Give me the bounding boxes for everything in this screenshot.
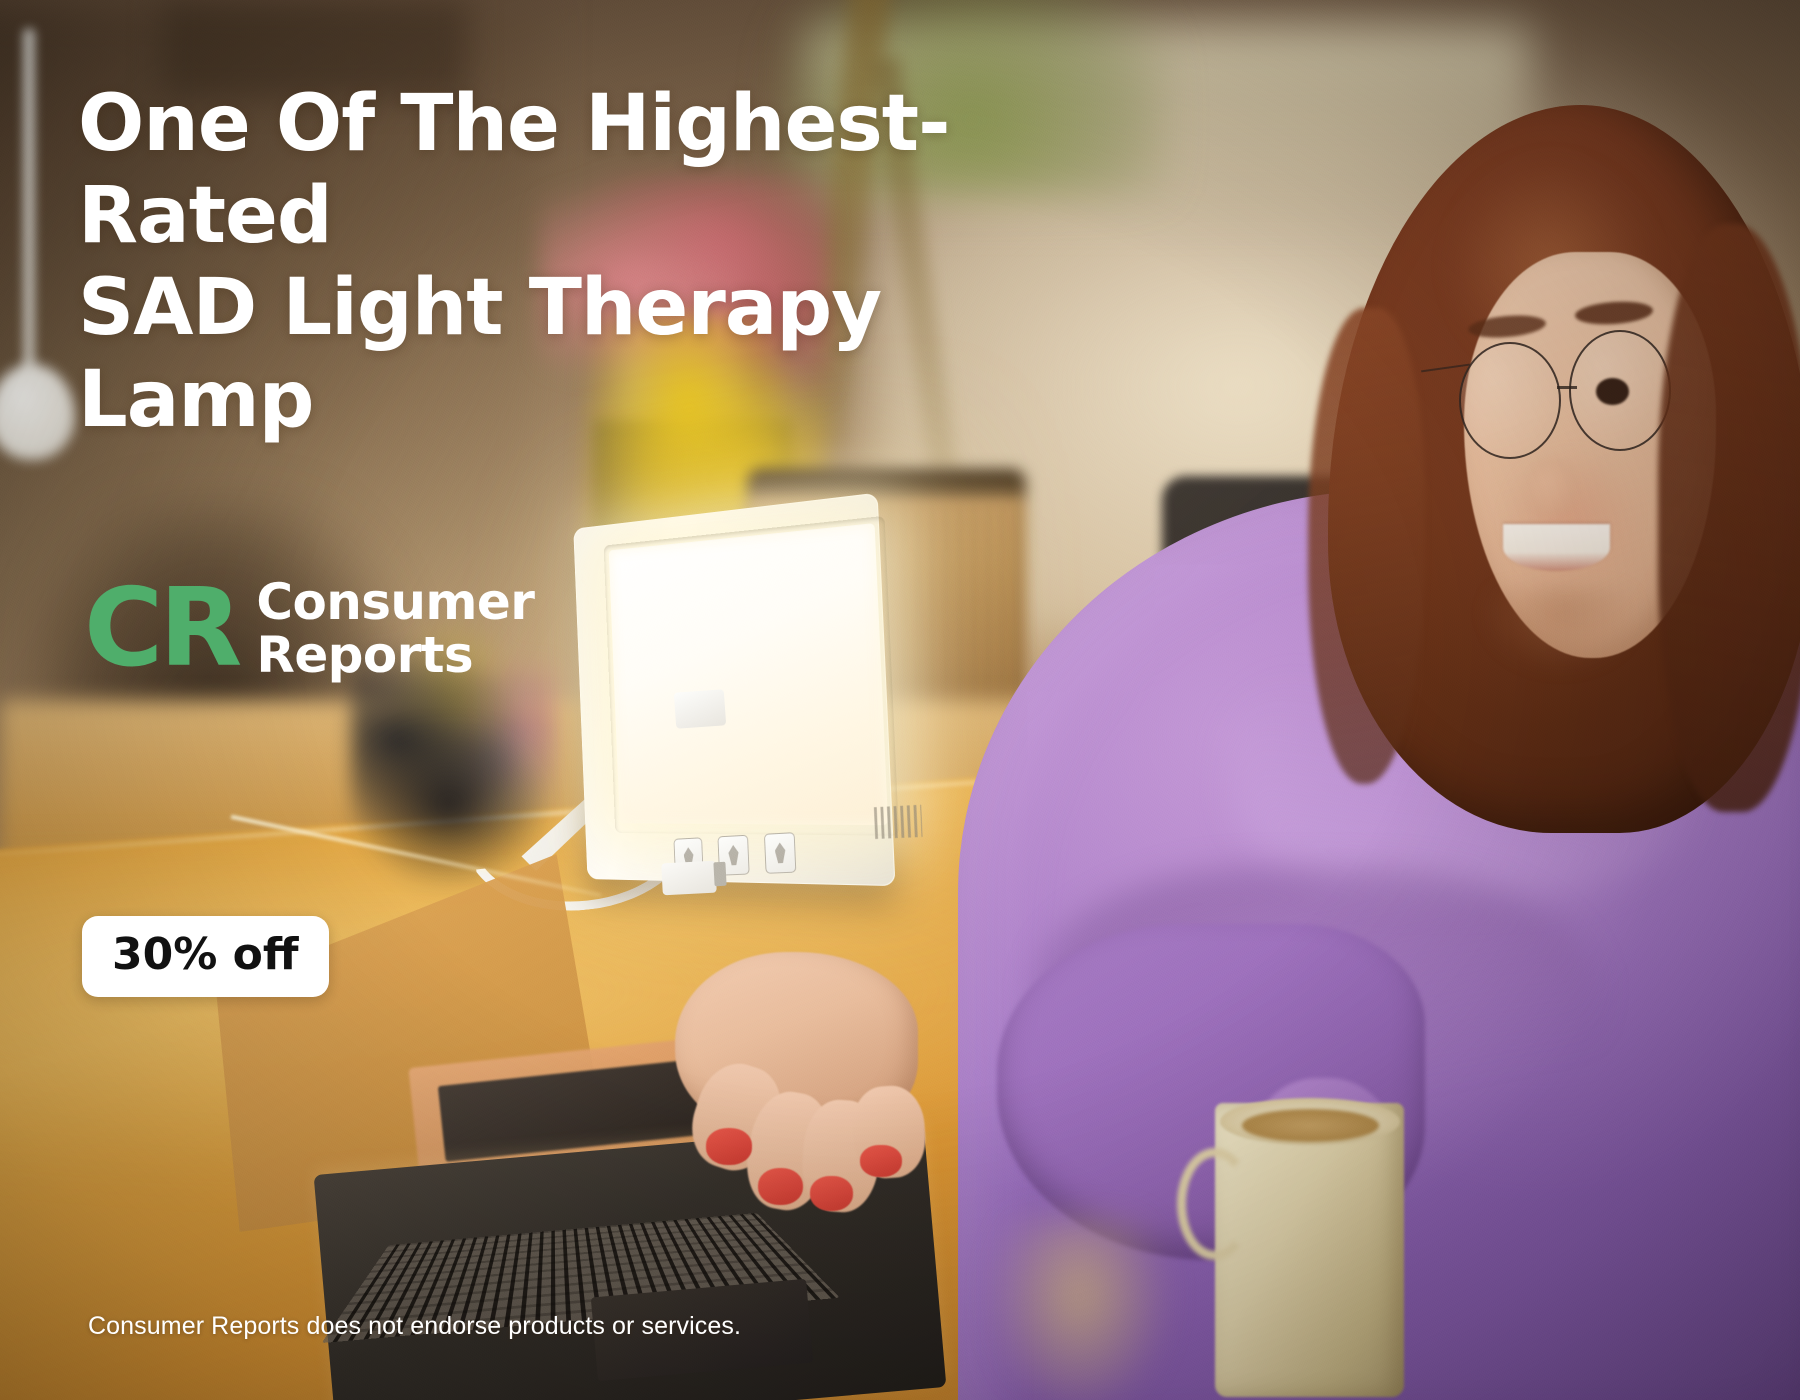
eyeglass-lens-left — [1459, 342, 1561, 460]
sad-light-therapy-lamp — [526, 511, 940, 910]
lamp-hinge — [673, 689, 725, 728]
eye — [1596, 378, 1629, 405]
consumer-reports-logo: CR Consumer Reports — [84, 576, 534, 682]
advertisement-banner: One Of The Highest-Rated SAD Light Thera… — [0, 0, 1800, 1400]
lamp-cable-plug — [661, 861, 716, 896]
nose — [1527, 459, 1576, 515]
hair-strand-right — [1658, 224, 1800, 812]
lamp-bezel — [604, 516, 899, 836]
chin-shadow — [1483, 588, 1639, 672]
lamp-timer-button-icon — [764, 832, 797, 873]
eyeglass-bridge — [1557, 386, 1576, 388]
smiling-mouth — [1503, 524, 1610, 572]
headline-line-2: SAD Light Therapy Lamp — [78, 262, 1138, 446]
discount-badge[interactable]: 30% off — [82, 916, 329, 997]
cr-wordmark: Consumer Reports — [256, 576, 534, 682]
mug-handle — [1177, 1148, 1253, 1260]
headline-line-1: One Of The Highest-Rated — [78, 79, 949, 261]
cr-monogram: CR — [84, 583, 238, 676]
fingernail — [706, 1128, 753, 1164]
cr-wordmark-line-2: Reports — [256, 629, 534, 682]
lamp-power-port — [713, 862, 727, 887]
fingernail — [810, 1176, 853, 1211]
background-mug — [990, 1218, 1170, 1400]
disclaimer-text: Consumer Reports does not endorse produc… — [88, 1312, 741, 1341]
hair-strand-left — [1308, 308, 1425, 784]
fingernail — [758, 1168, 803, 1206]
cr-wordmark-line-1: Consumer — [256, 576, 534, 629]
mug-contents — [1242, 1109, 1379, 1143]
fingernail — [860, 1145, 901, 1177]
headline: One Of The Highest-Rated SAD Light Thera… — [78, 78, 1138, 446]
ceramic-mug — [1215, 1103, 1404, 1397]
pendant-lamp-cord — [23, 28, 35, 420]
